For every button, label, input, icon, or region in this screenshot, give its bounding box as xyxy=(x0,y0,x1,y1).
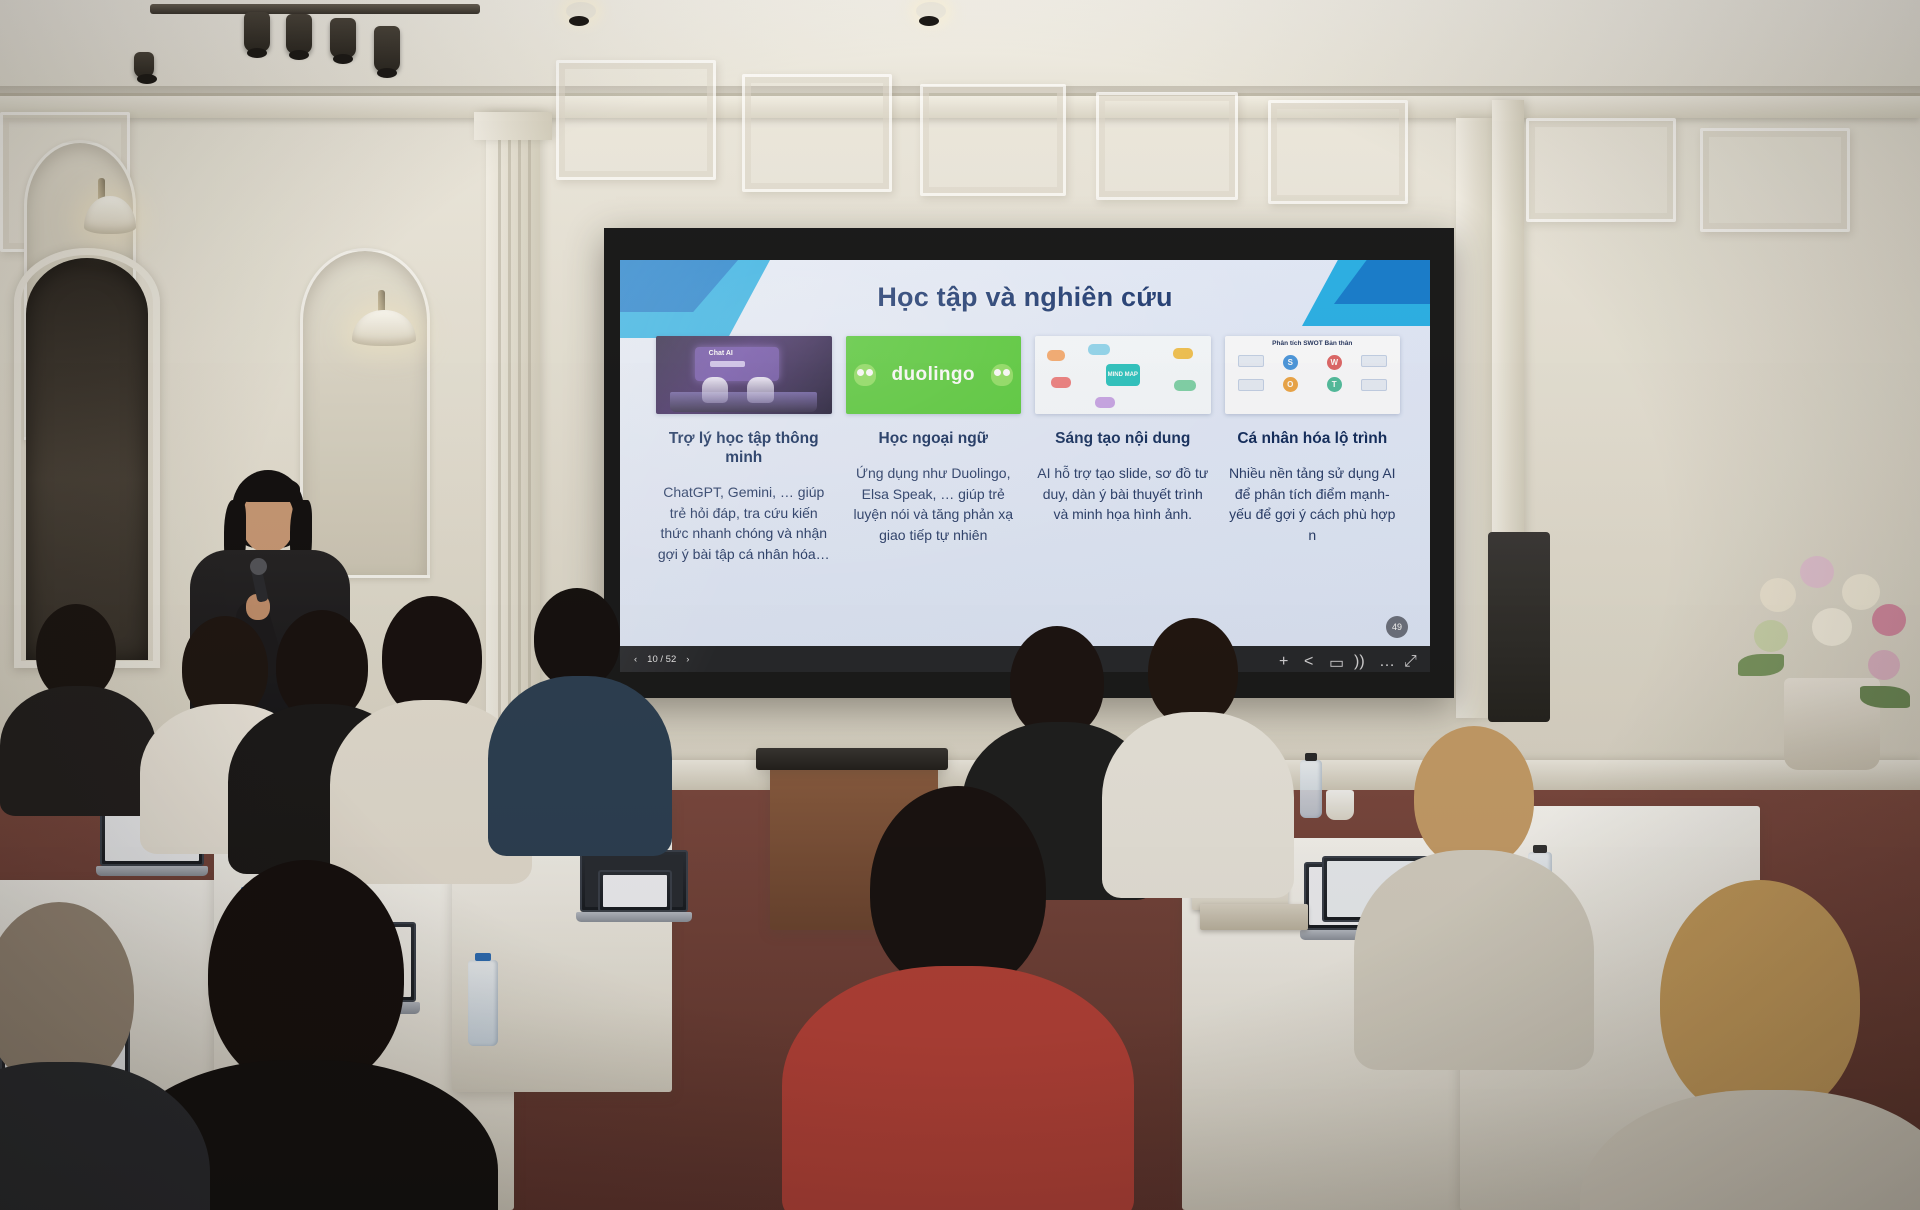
wall-panel xyxy=(1268,100,1408,204)
swot-grid: S W O T xyxy=(1260,351,1365,397)
bottle-cap xyxy=(1533,845,1546,853)
mindmap-node xyxy=(1047,350,1065,361)
wall-panel xyxy=(1700,128,1850,232)
flower xyxy=(1812,608,1852,646)
spotlight-fixture xyxy=(330,18,356,58)
shoulders xyxy=(488,676,672,856)
slide-page-badge: 49 xyxy=(1386,616,1408,638)
shoulders xyxy=(1102,712,1294,898)
notebook[interactable] xyxy=(1200,904,1308,930)
flower xyxy=(1800,556,1834,588)
duolingo-wordmark: duolingo xyxy=(892,364,975,386)
coffee-cup[interactable] xyxy=(1326,790,1354,820)
head xyxy=(1414,726,1534,868)
shoulders xyxy=(782,966,1134,1210)
slide-title: Học tập và nghiên cứu xyxy=(620,282,1430,313)
hand-shape xyxy=(702,377,728,404)
column-body: Nhiều nền tảng sử dụng AI để phân tích đ… xyxy=(1225,463,1401,546)
chat-ui-button xyxy=(710,361,745,367)
wall-panel xyxy=(920,84,1066,196)
pilaster-capital-left xyxy=(474,112,552,140)
swot-letter-t: T xyxy=(1327,377,1342,392)
duolingo-logo: duolingo xyxy=(846,336,1022,414)
hand-shape xyxy=(747,377,773,404)
swot-letter-w: W xyxy=(1327,355,1342,370)
slide-column: duolingo Học ngoại ngữ Ứng dụng như Duol… xyxy=(846,336,1022,650)
mindmap-node xyxy=(1095,397,1115,408)
head xyxy=(1148,618,1238,726)
flower xyxy=(1842,574,1880,610)
mindmap-node xyxy=(1088,344,1110,355)
recessed-downlight xyxy=(566,2,596,20)
spotlight-fixture xyxy=(134,52,154,78)
head xyxy=(208,860,404,1090)
swot-tag xyxy=(1361,379,1387,391)
slide-navigation[interactable]: ‹ 10 / 52 › xyxy=(634,654,689,665)
swot-tag xyxy=(1238,379,1264,391)
doorway[interactable] xyxy=(26,258,148,660)
share-icon[interactable]: < xyxy=(1304,653,1316,665)
recessed-downlight xyxy=(916,2,946,20)
water-bottle[interactable] xyxy=(1300,760,1322,818)
speaker-side-table-top xyxy=(756,748,948,770)
column-heading: Cá nhân hóa lộ trình xyxy=(1237,430,1387,449)
mindmap-node xyxy=(1174,380,1196,391)
column-body: AI hỗ trợ tạo slide, sơ đồ tư duy, dàn ý… xyxy=(1035,463,1211,525)
zoom-in-icon[interactable]: + xyxy=(1279,653,1291,665)
swot-analysis-illustration: Phân tích SWOT Bản thân S W O T xyxy=(1225,336,1401,414)
presentation-slide[interactable]: Học tập và nghiên cứu Chat AI Trợ lý học xyxy=(620,260,1430,672)
shoulders xyxy=(1354,850,1594,1070)
chat-ai-label: Chat AI xyxy=(709,350,733,357)
wall-panel xyxy=(1526,118,1676,222)
slide-column: MIND MAP Sáng tạo nội dung AI hỗ trợ tạo… xyxy=(1035,336,1211,650)
presenter-fringe xyxy=(238,476,300,502)
column-heading: Trợ lý học tập thông minh xyxy=(656,430,832,468)
prev-slide-button[interactable]: ‹ xyxy=(634,654,637,665)
flower xyxy=(1872,604,1906,636)
mindmap-center-label: MIND MAP xyxy=(1106,364,1140,386)
mind-map-illustration: MIND MAP xyxy=(1035,336,1211,414)
head xyxy=(870,786,1046,992)
swot-title: Phân tích SWOT Bản thân xyxy=(1272,340,1352,347)
projection-screen-assembly: Học tập và nghiên cứu Chat AI Trợ lý học xyxy=(604,228,1454,698)
fullscreen-icon[interactable]: ⤢ xyxy=(1404,653,1416,665)
wall-panel xyxy=(1096,92,1238,200)
conference-room-scene: Học tập và nghiên cứu Chat AI Trợ lý học xyxy=(0,0,1920,1210)
flower xyxy=(1754,620,1788,652)
spotlight-fixture xyxy=(244,12,270,52)
swot-tag xyxy=(1361,355,1387,367)
flower xyxy=(1760,578,1796,612)
podium xyxy=(1488,532,1550,722)
spotlight-fixture xyxy=(374,26,400,72)
water-bottle[interactable] xyxy=(468,960,498,1046)
swot-letter-o: O xyxy=(1283,377,1298,392)
duolingo-owl-icon xyxy=(991,364,1013,386)
swot-letter-s: S xyxy=(1283,355,1298,370)
head xyxy=(1660,880,1860,1120)
shoulders xyxy=(0,686,156,816)
laptop-content xyxy=(603,875,667,907)
microphone-head xyxy=(250,558,267,575)
flower xyxy=(1868,650,1900,680)
flower-leaf xyxy=(1860,686,1910,708)
light-track xyxy=(150,4,480,14)
column-heading: Sáng tạo nội dung xyxy=(1055,430,1190,449)
spotlight-fixture xyxy=(286,14,312,54)
wall-panel xyxy=(742,74,892,192)
column-body: Ứng dụng như Duolingo, Elsa Speak, … giú… xyxy=(846,463,1022,546)
duolingo-owl-icon xyxy=(854,364,876,386)
projection-surface[interactable]: Học tập và nghiên cứu Chat AI Trợ lý học xyxy=(620,260,1430,672)
slide-column: Phân tích SWOT Bản thân S W O T xyxy=(1225,336,1401,650)
column-body: ChatGPT, Gemini, … giúp trẻ hỏi đáp, tra… xyxy=(656,482,832,565)
wall-panel xyxy=(556,60,716,180)
mindmap-node xyxy=(1051,377,1071,388)
slide-page-indicator: 10 / 52 xyxy=(647,654,676,665)
next-slide-button[interactable]: › xyxy=(686,654,689,665)
laptop-screen xyxy=(598,870,672,912)
laptop-base xyxy=(96,866,208,876)
column-heading: Học ngoại ngữ xyxy=(879,430,988,449)
mindmap-node xyxy=(1173,348,1193,359)
bottle-cap xyxy=(1305,753,1317,761)
flower-leaf xyxy=(1738,654,1784,676)
slide-tools[interactable]: + < ▭ )) … ⤢ xyxy=(1279,653,1416,665)
slide-column: Chat AI Trợ lý học tập thông minh ChatGP… xyxy=(656,336,832,650)
audio-icon[interactable]: )) xyxy=(1354,653,1366,665)
slide-columns: Chat AI Trợ lý học tập thông minh ChatGP… xyxy=(656,336,1400,650)
present-icon[interactable]: ▭ xyxy=(1329,653,1341,665)
chat-ai-laptop-photo: Chat AI xyxy=(656,336,832,414)
laptop-shape xyxy=(670,392,817,412)
bottle-cap xyxy=(475,953,492,961)
laptop[interactable] xyxy=(594,870,674,922)
more-icon[interactable]: … xyxy=(1379,653,1391,665)
swot-tag xyxy=(1238,355,1264,367)
head xyxy=(534,588,620,688)
